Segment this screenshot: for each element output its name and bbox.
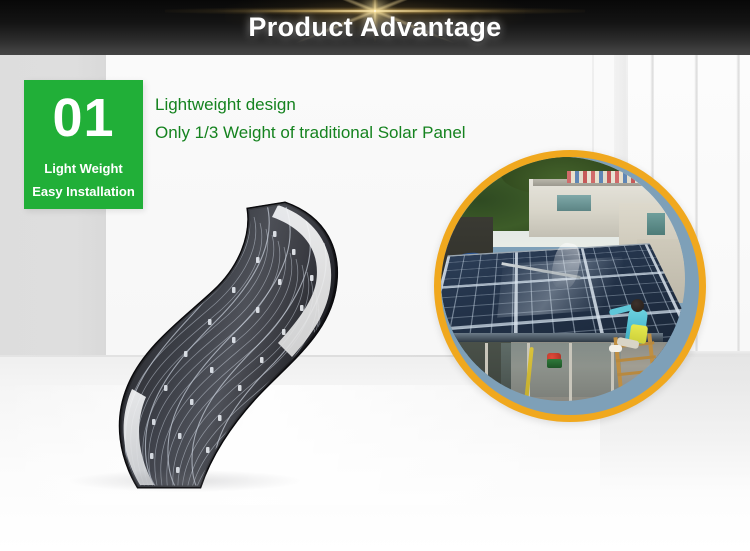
- photo-window-back: [557, 195, 591, 211]
- advantage-copy: Lightweight design Only 1/3 Weight of tr…: [155, 92, 555, 148]
- photo-content: [441, 157, 685, 401]
- window-mullion-3: [736, 55, 740, 355]
- page-title: Product Advantage: [0, 0, 750, 55]
- badge-label-line2: Easy Installation: [24, 184, 143, 199]
- photo-window-right: [647, 213, 665, 235]
- copy-headline: Lightweight design: [155, 92, 555, 118]
- advantage-number-badge: 01 Light Weight Easy Installation: [24, 80, 143, 209]
- photo-post-3: [569, 343, 572, 401]
- badge-label-line1: Light Weight: [24, 161, 143, 176]
- flexible-solar-panel-image: [80, 195, 380, 495]
- panel-floor-shadow: [70, 470, 300, 492]
- rooftop-solar-installation-photo: [434, 150, 706, 422]
- product-advantage-banner: 01 Light Weight Easy Installation Lightw…: [0, 0, 750, 551]
- photo-worker-head: [631, 299, 644, 312]
- photo-post-1: [485, 343, 488, 401]
- photo-worker-shoe: [609, 345, 622, 352]
- photo-green-bucket: [547, 359, 562, 368]
- photo-hanging-laundry: [567, 171, 639, 183]
- badge-number: 01: [24, 82, 143, 154]
- header-bar: Product Advantage: [0, 0, 750, 55]
- photo-glass-partition: [501, 343, 621, 397]
- copy-subline: Only 1/3 Weight of traditional Solar Pan…: [155, 118, 555, 148]
